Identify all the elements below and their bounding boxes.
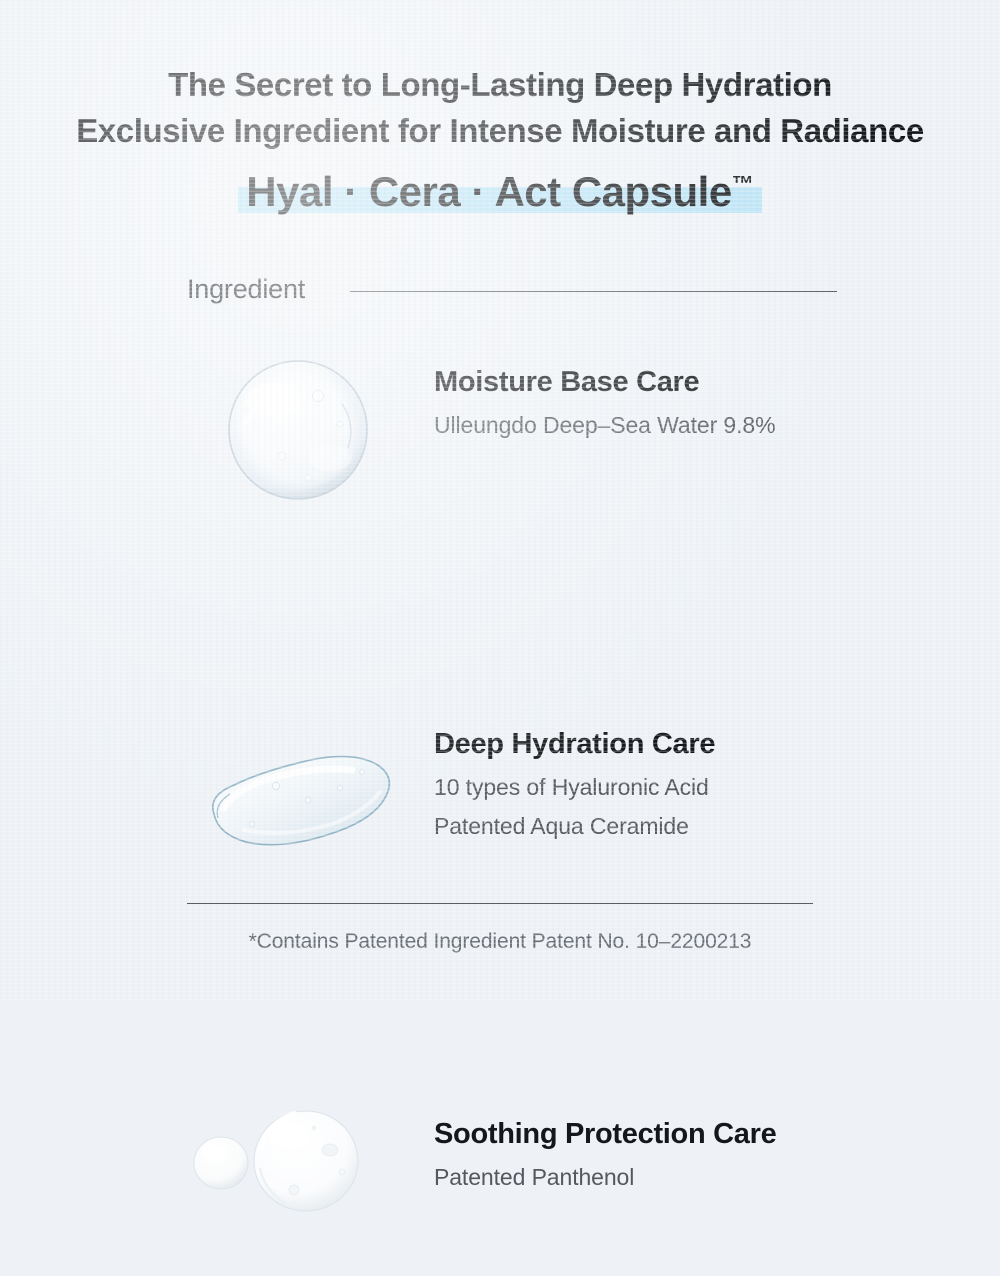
header: The Secret to Long-Lasting Deep Hydratio… xyxy=(0,62,1000,216)
ingredient-title: Soothing Protection Care xyxy=(434,1116,904,1152)
infographic-page: The Secret to Long-Lasting Deep Hydratio… xyxy=(0,0,1000,1000)
ingredient-row: Soothing Protection Care Patented Panthe… xyxy=(0,728,1000,916)
texture-image-white-cream-droplets xyxy=(190,1106,415,1276)
ingredient-section-header: Ingredient xyxy=(187,274,837,305)
headline-line-1: The Secret to Long-Lasting Deep Hydratio… xyxy=(0,62,1000,108)
headline-line-2: Exclusive Ingredient for Intense Moistur… xyxy=(0,108,1000,154)
section-label: Ingredient xyxy=(187,274,305,305)
trademark-symbol: ™ xyxy=(732,171,754,196)
product-name: Hyal · Cera · Act Capsule™ xyxy=(246,168,753,215)
patent-note: *Contains Patented Ingredient Patent No.… xyxy=(0,930,1000,954)
footer-divider-line xyxy=(187,903,813,904)
ingredient-text-block: Soothing Protection Care Patented Panthe… xyxy=(434,1116,904,1197)
ingredient-title: Moisture Base Care xyxy=(434,364,904,400)
texture-image-clear-gel-droplet xyxy=(190,352,415,522)
section-divider-line xyxy=(350,291,837,292)
ingredient-row: Deep Hydration Care 10 types of Hyaluron… xyxy=(0,540,1000,728)
ingredient-list: Moisture Base Care Ulleungdo Deep–Sea Wa… xyxy=(0,352,1000,916)
product-name-text: Hyal · Cera · Act Capsule xyxy=(246,168,731,215)
ingredient-description-line: Patented Panthenol xyxy=(434,1158,904,1197)
ingredient-description-line: Ulleungdo Deep–Sea Water 9.8% xyxy=(434,406,904,445)
product-name-block: Hyal · Cera · Act Capsule™ xyxy=(246,168,753,216)
ingredient-text-block: Moisture Base Care Ulleungdo Deep–Sea Wa… xyxy=(434,364,904,445)
ingredient-row: Moisture Base Care Ulleungdo Deep–Sea Wa… xyxy=(0,352,1000,540)
